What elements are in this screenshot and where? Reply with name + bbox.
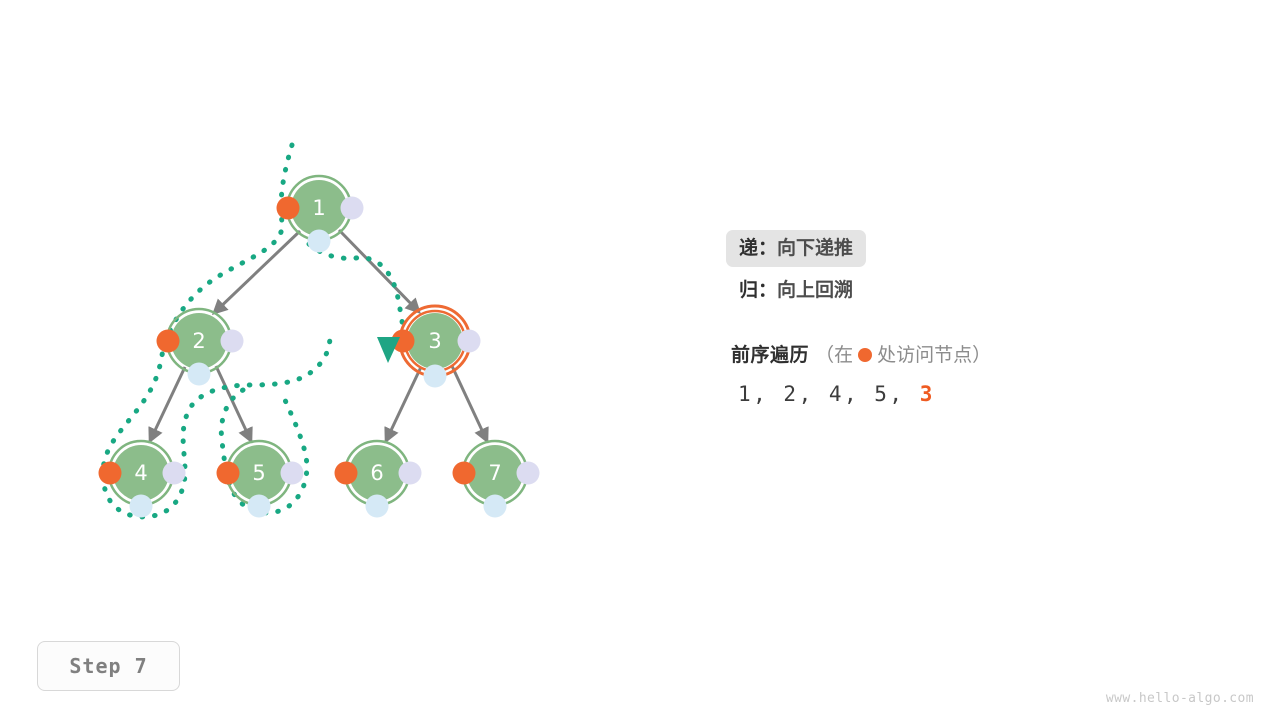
node-6-pre-slot-dot[interactable] [335,462,358,485]
legend-backtrack-up-value: 向上回溯 [777,279,853,301]
site-watermark-text: www.hello-algo.com [1106,691,1254,706]
legend-recurse-down: 递：向下递推 [726,230,866,267]
traversal-sequence-visited: 1, 2, 4, 5, [738,382,905,406]
node-6-post-slot-dot[interactable] [399,462,422,485]
node-5-label: 5 [252,461,265,485]
traversal-order-title: 前序遍历 （在处访问节点） [726,340,1146,367]
traversal-sequence: 1, 2, 4, 5, 3 [726,382,1146,406]
node-3-in-slot-dot[interactable] [424,365,447,388]
node-1-pre-slot-dot[interactable] [277,197,300,220]
edge-1-2 [214,231,300,313]
node-2-in-slot-dot[interactable] [188,363,211,386]
edge-3-7 [452,366,487,441]
tree-node-3[interactable]: 3 [392,306,481,388]
node-7-in-slot-dot[interactable] [484,495,507,518]
node-4-pre-slot-dot[interactable] [99,462,122,485]
node-7-pre-slot-dot[interactable] [453,462,476,485]
node-3-post-slot-dot[interactable] [458,330,481,353]
node-5-post-slot-dot[interactable] [281,462,304,485]
step-badge: Step 7 [37,641,180,691]
node-5-in-slot-dot[interactable] [248,495,271,518]
traversal-order-paren-open: （在 [815,344,853,366]
tree-node-7[interactable]: 7 [453,441,540,518]
node-1-label: 1 [312,196,325,220]
tree-node-6[interactable]: 6 [335,441,422,518]
legend-recurse-down-key: 递： [739,237,777,259]
step-badge-label: Step 7 [69,654,147,678]
edge-1-3 [339,230,419,312]
tree-nodes: 1 2 3 [99,176,540,518]
path-segment-root-to-node3 [309,244,404,330]
node-2-pre-slot-dot[interactable] [157,330,180,353]
edge-2-5 [216,366,251,441]
node-4-post-slot-dot[interactable] [163,462,186,485]
node-5-pre-slot-dot[interactable] [217,462,240,485]
node-6-in-slot-dot[interactable] [366,495,389,518]
legend-backtrack-up-key: 归： [739,279,777,301]
traversal-sequence-current: 3 [920,382,935,406]
info-panel: 递：向下递推 归：向上回溯 前序遍历 （在处访问节点） 1, 2, 4, 5, … [726,230,1146,406]
tree-node-2[interactable]: 2 [157,309,244,386]
edge-3-6 [386,367,421,441]
traversal-order-name: 前序遍历 [731,344,809,366]
legend-backtrack-up-row: 归：向上回溯 [726,272,1146,309]
node-2-post-slot-dot[interactable] [221,330,244,353]
orange-visit-dot-icon [858,348,872,362]
node-1-post-slot-dot[interactable] [341,197,364,220]
node-3-label: 3 [428,329,441,353]
animation-canvas: 1 2 3 [0,0,1280,720]
tree-node-4[interactable]: 4 [99,441,186,518]
legend-backtrack-up: 归：向上回溯 [726,272,866,309]
node-4-label: 4 [134,461,147,485]
node-2-label: 2 [192,329,205,353]
node-6-label: 6 [370,461,383,485]
node-7-post-slot-dot[interactable] [517,462,540,485]
site-watermark: www.hello-algo.com [1106,691,1254,706]
legend-recurse-down-value: 向下递推 [777,237,853,259]
legend-recurse-down-row: 递：向下递推 [726,230,1146,267]
node-4-in-slot-dot[interactable] [130,495,153,518]
traversal-order-paren-close: 处访问节点） [877,344,991,366]
node-7-label: 7 [488,461,501,485]
node-1-in-slot-dot[interactable] [308,230,331,253]
